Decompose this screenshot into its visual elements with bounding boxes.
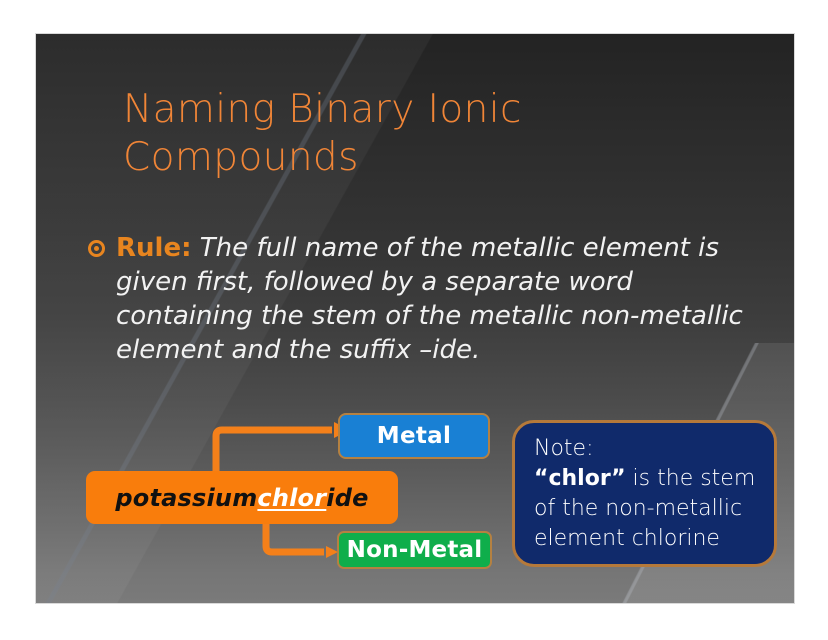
- elbow-arrow-up-right-icon: [216, 422, 350, 471]
- compound-suffix: ide: [326, 484, 368, 512]
- note-heading: Note:: [534, 434, 774, 464]
- non-metal-box: Non-Metal: [337, 531, 492, 569]
- compound-prefix: potassium: [115, 484, 257, 512]
- non-metal-box-label: Non-Metal: [347, 537, 483, 563]
- note-quote-open: “: [534, 466, 548, 491]
- elbow-arrow-down-right-icon: [266, 524, 338, 558]
- note-stem-text: chlor: [548, 466, 611, 491]
- note-stem-quoted: “chlor”: [534, 466, 626, 491]
- note-body: “chlor” is the stem of the non-metallic …: [534, 464, 774, 554]
- note-quote-close: ”: [611, 466, 625, 491]
- note-callout-box: Note: “chlor” is the stem of the non-met…: [512, 420, 777, 567]
- metal-box-label: Metal: [377, 423, 451, 449]
- compound-name-box: potassium chloride: [86, 471, 398, 524]
- slide-canvas: Naming Binary Ionic Compounds Rule: The …: [35, 33, 795, 604]
- metal-box: Metal: [338, 413, 490, 459]
- compound-stem-highlight: chlor: [257, 484, 326, 512]
- naming-diagram: Metal Non-Metal potassium chloride Note:…: [36, 34, 795, 604]
